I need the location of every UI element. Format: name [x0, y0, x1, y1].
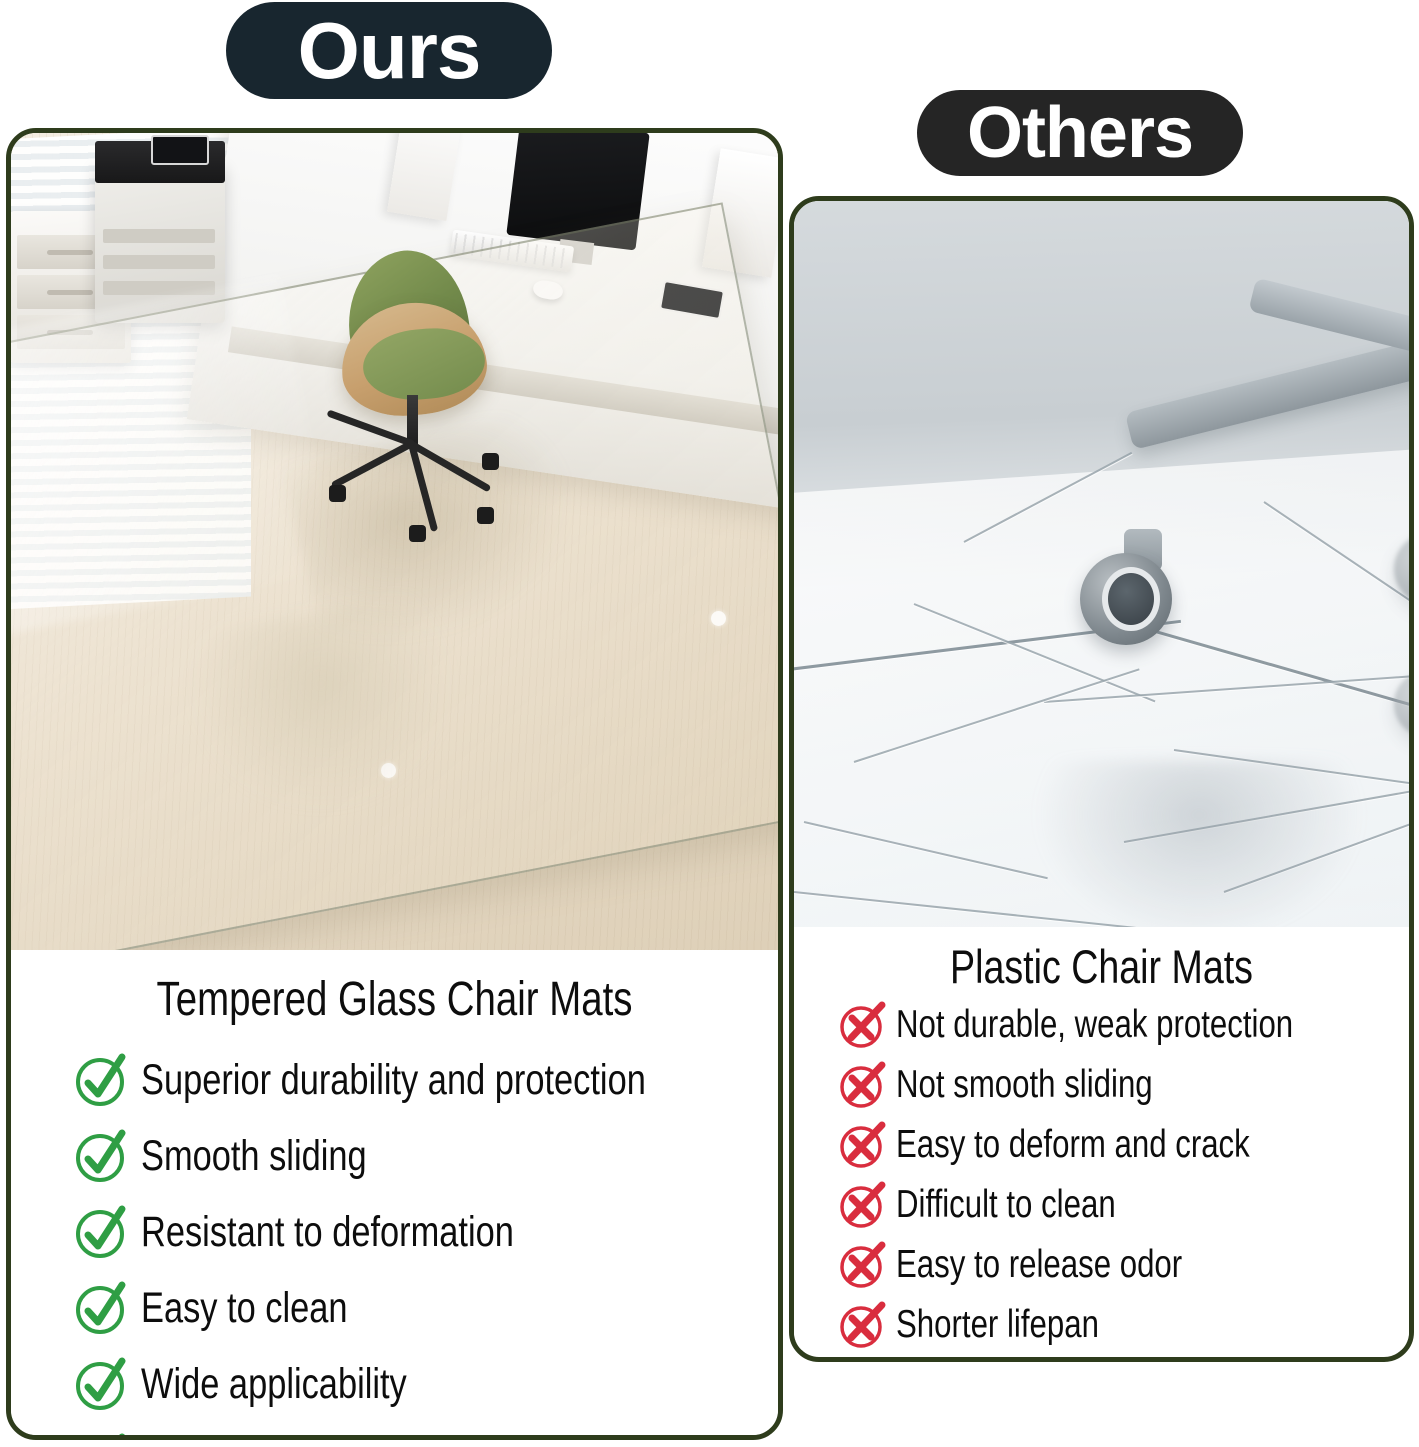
others-feature-list: Not durable, weak protection Not smooth … — [838, 1000, 1409, 1350]
feature-label: Longer-lasting — [141, 1436, 359, 1441]
printer-tray — [103, 229, 215, 243]
chair-caster — [329, 485, 346, 502]
check-circle-icon — [73, 1127, 131, 1185]
panel-others: Plastic Chair Mats Not durable, weak pro… — [789, 196, 1414, 1362]
ours-feature-list: Superior durability and protection Smoot… — [73, 1051, 778, 1440]
feature-item: Easy to deform and crack — [838, 1120, 1409, 1170]
panel-ours: Tempered Glass Chair Mats Superior durab… — [6, 128, 783, 1440]
feature-label: Smooth sliding — [141, 1132, 367, 1181]
check-circle-icon — [73, 1431, 131, 1440]
caster-reflection — [1034, 761, 1364, 927]
feature-item: Not smooth sliding — [838, 1060, 1409, 1110]
feature-label: Easy to clean — [141, 1284, 348, 1333]
cross-circle-icon — [838, 1180, 888, 1230]
feature-item: Shorter lifepan — [838, 1300, 1409, 1350]
ours-title: Tempered Glass Chair Mats — [88, 950, 702, 1027]
check-circle-icon — [73, 1279, 131, 1337]
check-circle-icon — [73, 1355, 131, 1413]
ours-content: Tempered Glass Chair Mats Superior durab… — [11, 950, 778, 1440]
cross-circle-icon — [838, 1060, 888, 1110]
others-content: Plastic Chair Mats Not durable, weak pro… — [794, 927, 1409, 1350]
chair-caster — [409, 525, 426, 542]
drawer-handle — [47, 250, 93, 255]
feature-item: Superior durability and protection — [73, 1051, 778, 1109]
badge-ours: Ours — [226, 2, 552, 99]
feature-item: Easy to clean — [73, 1279, 778, 1337]
cross-circle-icon — [838, 1000, 888, 1050]
cross-circle-icon — [838, 1120, 888, 1170]
feature-label: Not smooth sliding — [896, 1063, 1153, 1107]
feature-label: Not durable, weak protection — [896, 1003, 1293, 1047]
comparison-infographic: Ours Others — [0, 0, 1419, 1447]
feature-item: Smooth sliding — [73, 1127, 778, 1185]
photo-tempered-glass-office — [11, 133, 778, 950]
caster-hub — [1102, 567, 1160, 631]
feature-item: Wide applicability — [73, 1355, 778, 1413]
chair-caster — [477, 507, 494, 524]
feature-label: Easy to release odor — [896, 1243, 1182, 1287]
feature-item: Difficult to clean — [838, 1180, 1409, 1230]
feature-label: Easy to deform and crack — [896, 1123, 1250, 1167]
badge-others: Others — [917, 90, 1243, 176]
check-circle-icon — [73, 1051, 131, 1109]
printer-control-panel — [151, 135, 209, 165]
check-circle-icon — [73, 1203, 131, 1261]
feature-label: Superior durability and protection — [141, 1056, 646, 1105]
feature-item: Not durable, weak protection — [838, 1000, 1409, 1050]
feature-label: Difficult to clean — [896, 1183, 1116, 1227]
others-title: Plastic Chair Mats — [856, 927, 1348, 994]
cross-circle-icon — [838, 1300, 888, 1350]
feature-label: Wide applicability — [141, 1360, 407, 1409]
photo-cracked-plastic-mat — [794, 201, 1409, 927]
feature-label: Resistant to deformation — [141, 1208, 514, 1257]
mat-anti-slip-dot — [711, 611, 726, 626]
chair-caster — [482, 453, 499, 470]
feature-item: Longer-lasting — [73, 1431, 778, 1440]
printer-tray — [103, 255, 215, 269]
feature-item: Resistant to deformation — [73, 1203, 778, 1261]
chair-caster-wheel — [1080, 553, 1172, 645]
feature-item: Easy to release odor — [838, 1240, 1409, 1290]
drawer-handle — [47, 290, 93, 295]
cross-circle-icon — [838, 1240, 888, 1290]
feature-label: Shorter lifepan — [896, 1303, 1099, 1347]
